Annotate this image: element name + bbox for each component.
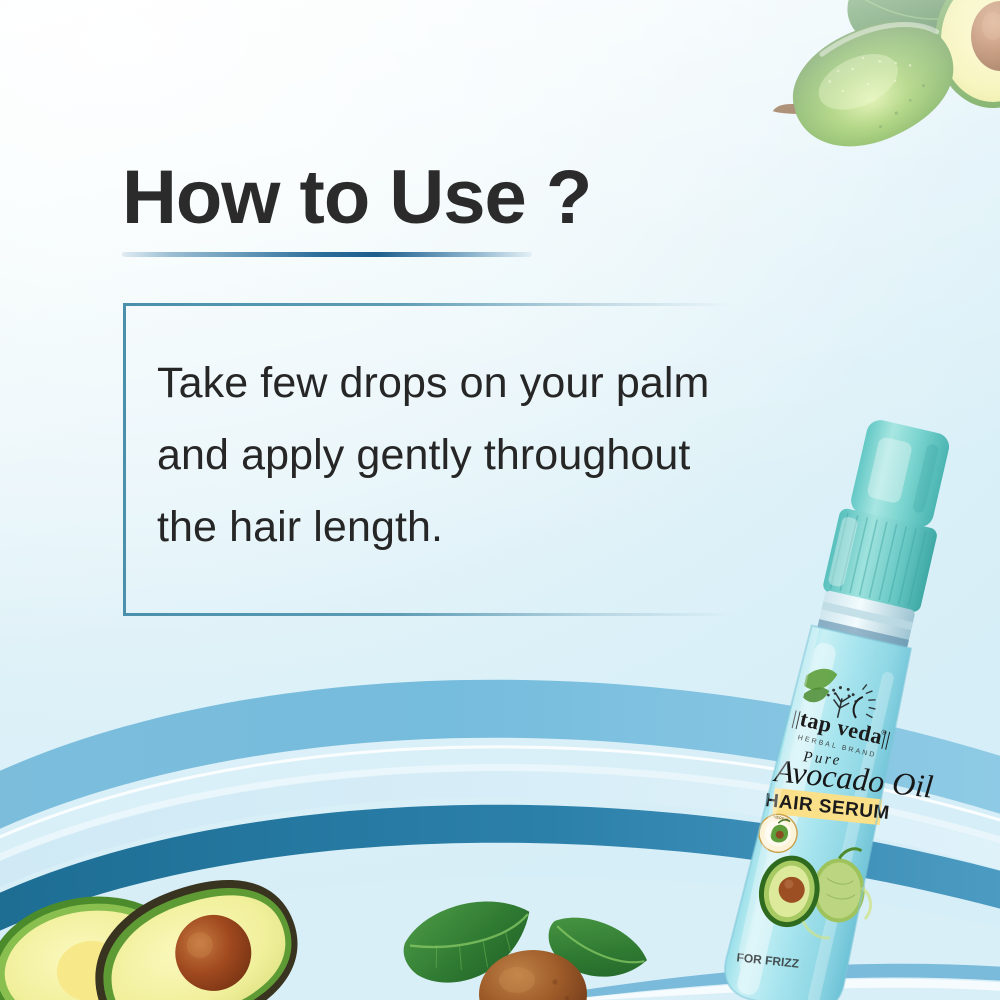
svg-text:||: || [790, 707, 803, 730]
svg-text:FOR FRIZZ: FOR FRIZZ [736, 950, 800, 970]
instruction-line-1: Take few drops on your palm [157, 347, 897, 419]
svg-text:tap veda: tap veda [798, 706, 886, 749]
avocado-bottom-left-group [0, 855, 300, 1000]
title-underline [122, 252, 532, 257]
instruction-line-3: the hair length. [157, 491, 897, 563]
svg-text:Avocado Oil: Avocado Oil [771, 752, 935, 805]
svg-text:HERBAL BRAND: HERBAL BRAND [797, 734, 877, 759]
instruction-text: Take few drops on your palm and apply ge… [157, 347, 897, 564]
box-border-top [123, 303, 730, 306]
leaves-and-seed-group [395, 890, 655, 1000]
instruction-box: Take few drops on your palm and apply ge… [123, 303, 730, 616]
instruction-line-2: and apply gently throughout [157, 419, 897, 491]
box-border-bottom [123, 613, 730, 616]
svg-text:HAIR SERUM: HAIR SERUM [764, 790, 891, 824]
svg-text:®: ® [881, 728, 889, 737]
box-border-left [123, 303, 126, 616]
page-title: How to Use ? [122, 160, 762, 236]
wave-decoration [0, 670, 1000, 1000]
heading-block: How to Use ? [122, 160, 762, 257]
svg-text:Pure: Pure [802, 749, 843, 769]
avocado-top-right-group [745, 0, 1000, 197]
svg-text:||: || [880, 728, 893, 751]
svg-text:HERBAL: HERBAL [773, 814, 790, 823]
poster-canvas: How to Use ? Take few drops on your palm… [0, 0, 1000, 1000]
